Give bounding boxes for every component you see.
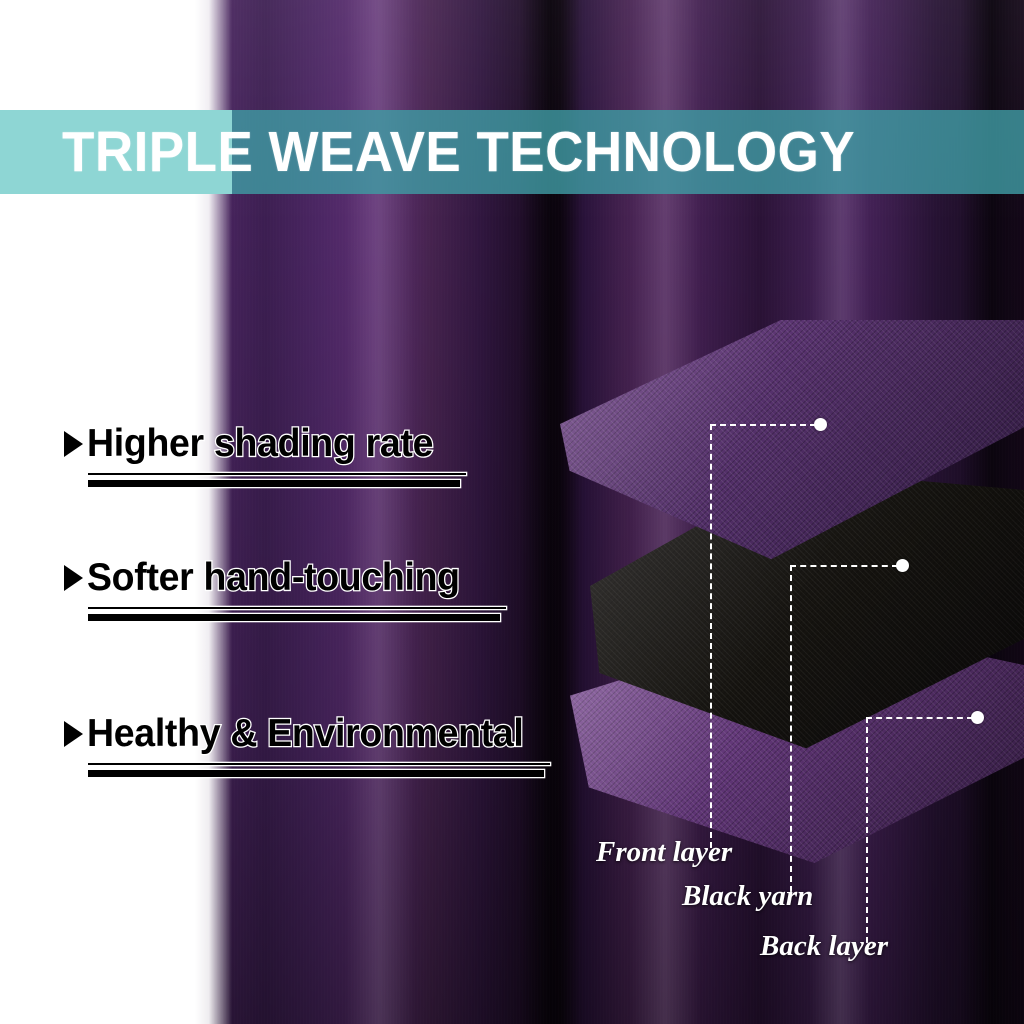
feature-label: Softer hand-touching <box>87 556 460 600</box>
feature-item: Softer hand-touching <box>64 556 494 621</box>
leader-line-front-layer-vertical <box>710 424 712 848</box>
feature-label: Healthy & Environmental <box>87 712 524 756</box>
triple-weave-fabric-layers <box>560 320 1024 880</box>
headline-banner: TRIPLE WEAVE TECHNOLOGY <box>0 110 1024 194</box>
fabric-layer-label-front: Front layer <box>596 836 732 869</box>
feature-label: Higher shading rate <box>87 422 433 466</box>
feature-underline <box>88 607 506 621</box>
feature-row: Healthy & Environmental <box>64 712 542 756</box>
feature-row: Softer hand-touching <box>64 556 494 600</box>
underline-thin <box>88 607 506 609</box>
banner-title: TRIPLE WEAVE TECHNOLOGY <box>62 119 855 185</box>
fabric-layer-label-back: Back layer <box>760 930 888 963</box>
product-infographic: TRIPLE WEAVE TECHNOLOGY Higher shading r… <box>0 0 1024 1024</box>
feature-item: Healthy & Environmental <box>64 712 542 777</box>
feature-row: Higher shading rate <box>64 422 464 466</box>
feature-item: Higher shading rate <box>64 422 464 487</box>
underline-thin <box>88 763 550 765</box>
leader-line-back-layer-vertical <box>866 717 868 943</box>
leader-line-front-layer-horizontal <box>710 424 816 426</box>
underline-thick <box>88 770 544 777</box>
triangle-right-icon <box>64 721 83 747</box>
triangle-right-icon <box>64 565 83 591</box>
underline-thin <box>88 473 466 475</box>
feature-underline <box>88 473 466 487</box>
fabric-layer-label-black-yarn: Black yarn <box>682 880 813 913</box>
underline-thick <box>88 480 460 487</box>
feature-underline <box>88 763 550 777</box>
leader-line-black-yarn-vertical <box>790 565 792 892</box>
underline-thick <box>88 614 500 621</box>
triangle-right-icon <box>64 431 83 457</box>
leader-line-black-yarn-horizontal <box>790 565 898 567</box>
leader-line-back-layer-horizontal <box>866 717 973 719</box>
